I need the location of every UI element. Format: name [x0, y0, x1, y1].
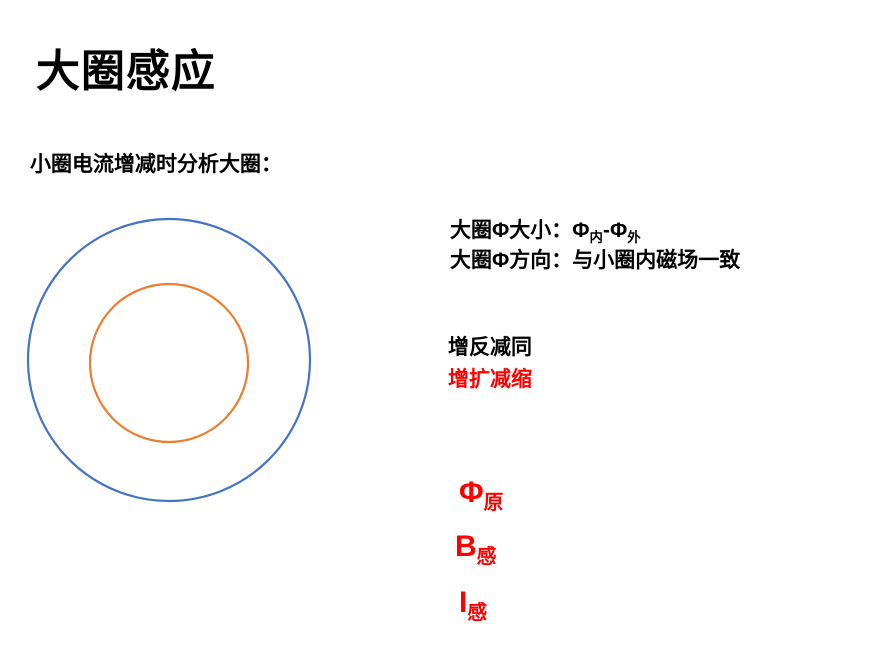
flux-magnitude-label: 大圈Φ大小： — [450, 219, 572, 242]
symbol-induced-current: I感 — [459, 588, 487, 618]
concentric-coils-diagram — [18, 208, 323, 513]
flux-magnitude-line: 大圈Φ大小：Φ内-Φ外 — [450, 216, 740, 246]
symbol-original-flux: Φ原 — [459, 478, 503, 508]
inner-coil-circle — [90, 284, 248, 442]
symbol-original-flux-sub: 原 — [484, 492, 504, 514]
flux-direction-label: 大圈Φ方向： — [450, 249, 572, 272]
outer-coil-circle — [28, 219, 310, 501]
symbol-original-flux-main: Φ — [459, 476, 484, 509]
symbol-induced-field-main: B — [455, 530, 477, 563]
symbol-induced-field: B感 — [455, 532, 496, 562]
symbol-induced-current-sub: 感 — [467, 602, 487, 624]
flux-direction-line: 大圈Φ方向：与小圈内磁场一致 — [450, 246, 740, 276]
flux-description-block: 大圈Φ大小：Φ内-Φ外 大圈Φ方向：与小圈内磁场一致 — [450, 216, 740, 276]
slide-canvas: 大圈感应 小圈电流增减时分析大圈： 大圈Φ大小：Φ内-Φ外 大圈Φ方向：与小圈内… — [0, 0, 893, 666]
symbol-induced-field-sub: 感 — [477, 546, 497, 568]
flux-direction-value: 与小圈内磁场一致 — [572, 249, 740, 272]
rule-line-direction: 增反减同 — [448, 332, 532, 364]
flux-magnitude-subscript-outer: 外 — [627, 230, 640, 245]
rule-mnemonic-block: 增反减同 增扩减缩 — [448, 332, 532, 396]
flux-magnitude-value-mid: -Φ — [603, 219, 627, 242]
rule-line-deformation: 增扩减缩 — [448, 364, 532, 396]
flux-magnitude-subscript-inner: 内 — [590, 230, 603, 245]
page-title: 大圈感应 — [36, 48, 216, 96]
slide-subtitle: 小圈电流增减时分析大圈： — [30, 152, 282, 177]
flux-magnitude-value-lead: Φ — [572, 219, 589, 242]
